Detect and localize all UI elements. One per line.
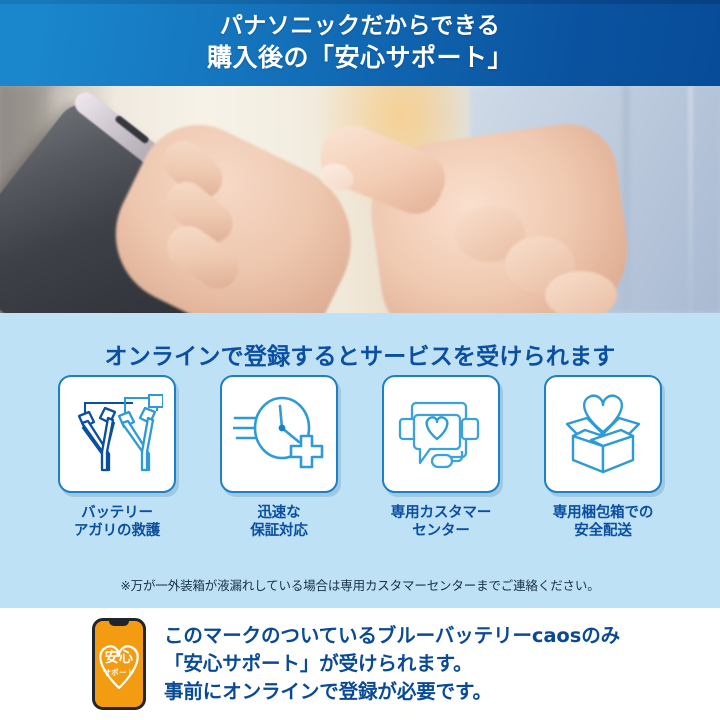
service-card-label: 迅速な 保証対応 bbox=[250, 504, 307, 541]
photo-shirt-fold-b bbox=[624, 86, 628, 313]
photo-shirt-fold-a bbox=[689, 86, 692, 313]
footer-section: 安心 サポート このマークのついているブルーバッテリーcaosのみ 「安心サポー… bbox=[0, 608, 720, 720]
service-card-label: 専用カスタマー センター bbox=[391, 504, 492, 541]
photo-knuckle-c bbox=[545, 271, 617, 313]
header-banner: パナソニックだからできる 購入後の「安心サポート」 bbox=[0, 0, 720, 86]
service-card-label-line1: 迅速な bbox=[250, 504, 307, 522]
service-card-label-line2: アガリの救護 bbox=[74, 522, 160, 540]
service-card-label-line1: バッテリー bbox=[74, 504, 160, 522]
service-card-frame bbox=[58, 375, 176, 493]
service-card-label: バッテリー アガリの救護 bbox=[74, 504, 160, 541]
services-section: オンラインで登録するとサービスを受けられます bbox=[0, 313, 720, 608]
jumper-cables-icon bbox=[71, 390, 163, 478]
fast-clock-plus-icon bbox=[233, 392, 325, 476]
service-card-fast-warranty[interactable]: 迅速な 保証対応 bbox=[218, 375, 340, 541]
phone-mark-text-top: 安心 bbox=[95, 651, 143, 665]
service-card-label: 専用梱包箱での 安全配送 bbox=[553, 504, 654, 541]
service-card-label-line2: 安全配送 bbox=[553, 522, 654, 540]
footer-line-2: 「安心サポート」が受けられます。 bbox=[164, 650, 620, 678]
service-card-safe-delivery[interactable]: 専用梱包箱での 安全配送 bbox=[542, 375, 664, 541]
service-card-frame bbox=[382, 375, 500, 493]
services-card-list: バッテリー アガリの救護 bbox=[0, 375, 720, 541]
services-title: オンラインで登録するとサービスを受けられます bbox=[0, 313, 720, 371]
service-card-frame bbox=[544, 375, 662, 493]
phone-mark-text: 安心 サポート bbox=[95, 651, 143, 677]
service-card-label-line2: 保証対応 bbox=[250, 522, 307, 540]
service-card-customer-center[interactable]: 専用カスタマー センター bbox=[380, 375, 502, 541]
header-title-line2: 購入後の「安心サポート」 bbox=[207, 42, 513, 74]
service-card-label-line1: 専用カスタマー bbox=[391, 504, 492, 522]
heart-box-icon bbox=[557, 390, 649, 478]
promo-page: パナソニックだからできる 購入後の「安心サポート」 オンラインで登録するとサービ… bbox=[0, 0, 720, 720]
service-card-label-line2: センター bbox=[391, 522, 492, 540]
phone-anshin-mark-icon: 安心 サポート bbox=[92, 618, 146, 710]
customer-support-heart-icon bbox=[396, 391, 486, 477]
footer-line-3: 事前にオンラインで登録が必要です。 bbox=[164, 678, 620, 706]
service-card-label-line1: 専用梱包箱での bbox=[553, 504, 654, 522]
phone-notch bbox=[109, 621, 129, 626]
services-note: ※万が一外装箱が液漏れしている場合は専用カスタマーセンターまでご連絡ください。 bbox=[0, 575, 720, 594]
footer-text-block: このマークのついているブルーバッテリーcaosのみ 「安心サポート」が受けられま… bbox=[164, 622, 620, 705]
footer-line-1: このマークのついているブルーバッテリーcaosのみ bbox=[164, 622, 620, 650]
service-card-frame bbox=[220, 375, 338, 493]
hero-photo bbox=[0, 86, 720, 313]
header-title-line1: パナソニックだからできる bbox=[220, 12, 500, 41]
phone-mark-text-bottom: サポート bbox=[95, 669, 143, 677]
service-card-battery-rescue[interactable]: バッテリー アガリの救護 bbox=[56, 375, 178, 541]
